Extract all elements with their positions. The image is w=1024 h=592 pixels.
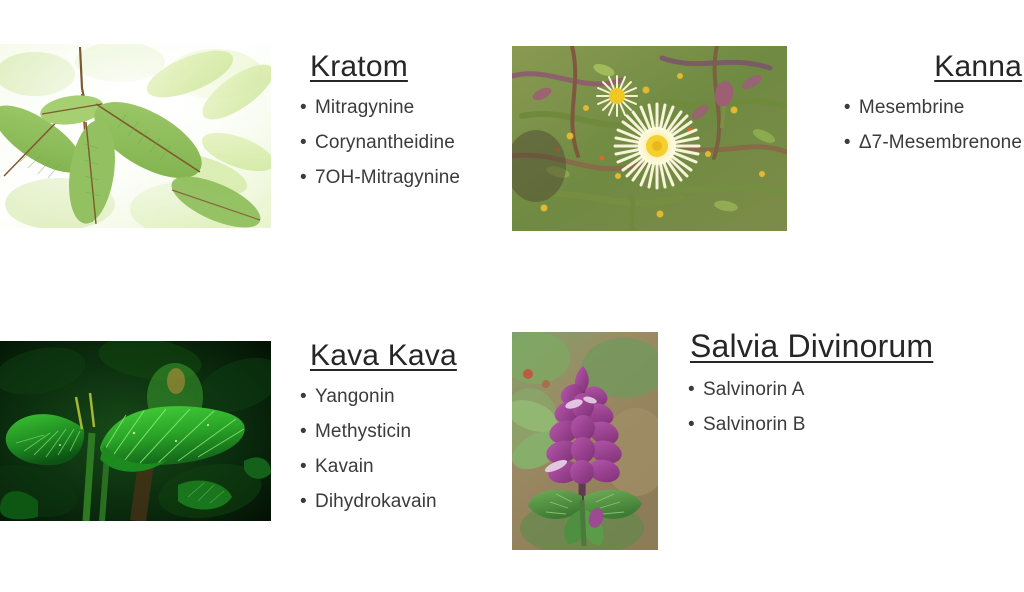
bullet-icon: • (688, 407, 695, 442)
bullet-icon: • (300, 90, 307, 125)
list-item: •Methysticin (300, 414, 500, 449)
compound-label: Corynantheidine (315, 132, 455, 153)
compound-label: 7OH-Mitragynine (315, 167, 460, 188)
bullet-icon: • (688, 372, 695, 407)
compound-label: Salvinorin B (703, 414, 806, 435)
compound-label: Kavain (315, 456, 374, 477)
list-item: •Salvinorin A (688, 372, 948, 407)
list-item: •Dihydrokavain (300, 484, 500, 519)
kava-title: Kava Kava (310, 339, 500, 373)
salvia-flower-photo (512, 332, 658, 550)
compound-label: Mitragynine (315, 97, 414, 118)
list-item: •Yangonin (300, 379, 500, 414)
bullet-icon: • (300, 160, 307, 195)
kava-leaves-photo (0, 341, 271, 521)
kava-compound-list: •Yangonin •Methysticin •Kavain •Dihydrok… (300, 379, 500, 519)
kanna-compound-list: •Mesembrine •Δ7-Mesembrenone (844, 90, 1022, 160)
bullet-icon: • (300, 414, 307, 449)
bullet-icon: • (844, 125, 851, 160)
compound-label: Methysticin (315, 421, 411, 442)
list-item: •7OH-Mitragynine (300, 160, 500, 195)
list-item: •Δ7-Mesembrenone (844, 125, 1022, 160)
list-item: •Mitragynine (300, 90, 500, 125)
compound-label: Yangonin (315, 386, 395, 407)
compound-label: Dihydrokavain (315, 491, 437, 512)
compound-label: Salvinorin A (703, 379, 805, 400)
salvia-title: Salvia Divinorum (690, 328, 948, 364)
kanna-title: Kanna (770, 50, 1022, 84)
kanna-text-block: Kanna •Mesembrine •Δ7-Mesembrenone (760, 50, 1022, 160)
kanna-flower-photo (512, 46, 787, 231)
bullet-icon: • (844, 90, 851, 125)
kratom-text-block: Kratom •Mitragynine •Corynantheidine •7O… (300, 50, 500, 195)
salvia-photo-artwork (512, 332, 658, 550)
bullet-icon: • (300, 125, 307, 160)
list-item: •Kavain (300, 449, 500, 484)
list-item: •Corynantheidine (300, 125, 500, 160)
salvia-compound-list: •Salvinorin A •Salvinorin B (688, 372, 948, 442)
kava-photo-artwork (0, 341, 271, 521)
kanna-photo-artwork (512, 46, 787, 231)
list-item: •Mesembrine (844, 90, 1022, 125)
list-item: •Salvinorin B (688, 407, 948, 442)
salvia-text-block: Salvia Divinorum •Salvinorin A •Salvinor… (688, 328, 948, 442)
kratom-leaves-photo (0, 44, 271, 228)
bullet-icon: • (300, 449, 307, 484)
kratom-photo-artwork (0, 44, 271, 228)
slide-canvas: Kratom •Mitragynine •Corynantheidine •7O… (0, 0, 1024, 592)
compound-label: Mesembrine (859, 97, 965, 118)
bullet-icon: • (300, 379, 307, 414)
kava-text-block: Kava Kava •Yangonin •Methysticin •Kavain… (300, 339, 500, 519)
kratom-compound-list: •Mitragynine •Corynantheidine •7OH-Mitra… (300, 90, 500, 195)
kratom-title: Kratom (310, 50, 500, 84)
compound-label: Δ7-Mesembrenone (859, 132, 1022, 153)
bullet-icon: • (300, 484, 307, 519)
